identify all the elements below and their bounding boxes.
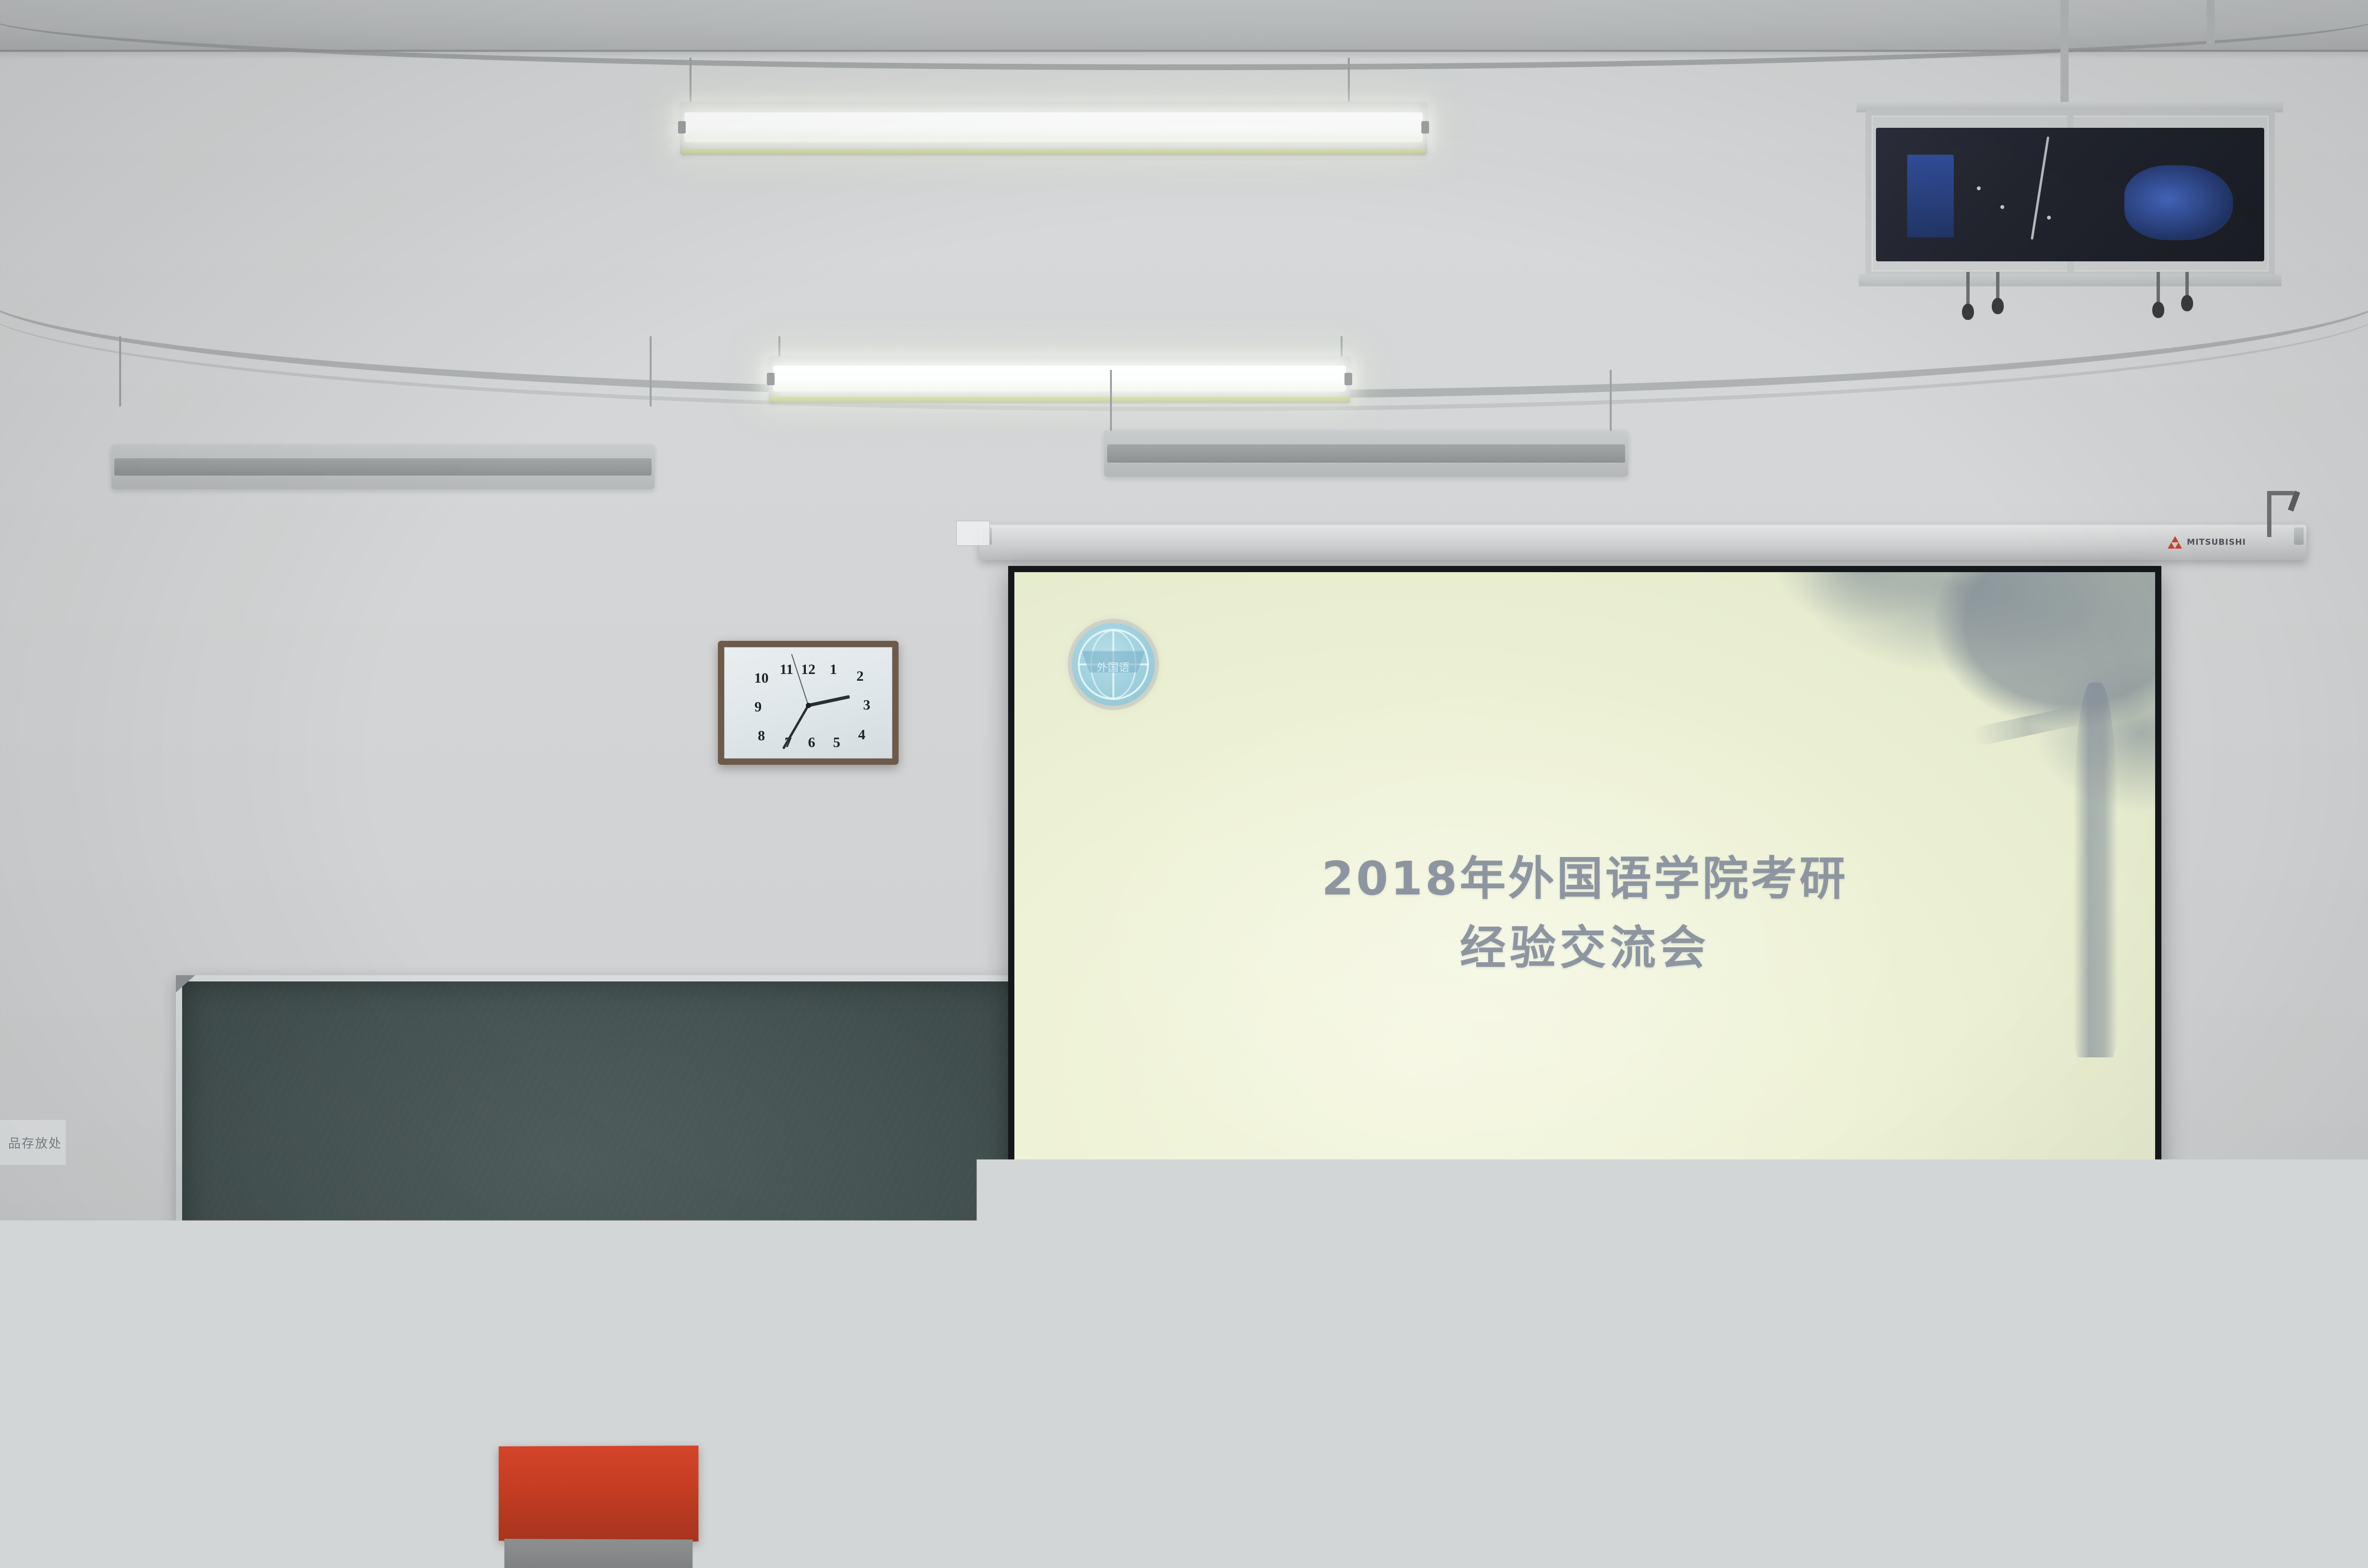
building-watermark — [1061, 1287, 1397, 1445]
wall-clock: 12 1 2 3 4 5 6 7 8 9 10 11 — [718, 641, 899, 765]
slide-date-row: 2018年6月1日 — [1810, 1308, 2085, 1342]
slide-credits: 外国语学院学生会学科部 2018年6月1日 心怀梦想 脚踏实地 — [1810, 1262, 2085, 1373]
building-arch-1 — [1162, 1362, 1182, 1399]
projector-hanger-1 — [1966, 272, 1970, 309]
hanger-knob — [2152, 302, 2164, 318]
three-diamond-icon — [2168, 536, 2182, 549]
light-glow — [681, 149, 1426, 156]
glasses-bridge — [691, 1283, 701, 1284]
fluorescent-tube — [684, 112, 1423, 142]
baseboard — [0, 1548, 2368, 1568]
mitsubishi-label: MITSUBISHI — [2187, 538, 2246, 547]
projector-lens-housing — [2124, 165, 2233, 240]
ceiling-light-right — [1104, 430, 1628, 477]
slide-title-line-1: 2018年外国语学院考研 — [1014, 856, 2155, 902]
light-rod-a1 — [690, 58, 691, 105]
projector-body — [1876, 128, 2264, 261]
projector-hanger-3 — [2157, 272, 2160, 307]
building-column-2 — [1117, 1359, 1125, 1445]
date-bullet-icon — [1897, 1317, 1913, 1333]
slide-title-line-2: 经验交流会 — [1014, 925, 2155, 971]
building-main-block — [1070, 1353, 1368, 1445]
clock-numeral-11: 11 — [780, 661, 793, 678]
building-arch-3 — [1230, 1362, 1249, 1399]
lens-left — [655, 1276, 687, 1296]
clock-numeral-9: 9 — [754, 699, 762, 715]
projector-hanger-4 — [2185, 272, 2189, 301]
clock-numeral-12: 12 — [801, 661, 815, 678]
building-column-1 — [1090, 1359, 1098, 1445]
globe-emblem-icon: 外国语 — [1072, 623, 1155, 706]
eyebrow-right — [703, 1268, 728, 1271]
light-cap-right — [1344, 373, 1352, 385]
screen-wall-bracket — [2267, 491, 2294, 537]
projection-screen: 外国语 2018年外国语学院考研 经验交流会 外国语学院学生会学科部 2018年… — [1008, 566, 2161, 1464]
projector-mount-post-right — [2207, 0, 2215, 44]
building-pediment — [1131, 1340, 1298, 1359]
clock-numeral-5: 5 — [833, 735, 840, 751]
ceiling-light-left — [111, 445, 654, 489]
projector-indicator-1 — [1977, 186, 1981, 190]
building-column-3 — [1272, 1359, 1280, 1445]
light-rod-d2 — [1610, 370, 1612, 432]
slide-motto: 心怀梦想 脚踏实地 — [1810, 1356, 2085, 1373]
fluorescent-tube-off — [1107, 444, 1625, 463]
clock-numeral-1: 1 — [830, 661, 837, 678]
clock-face: 12 1 2 3 4 5 6 7 8 9 10 11 — [724, 647, 892, 759]
projector-indicator-3 — [2047, 216, 2051, 220]
shirt-collar — [669, 1340, 723, 1361]
mouth — [685, 1309, 707, 1316]
building-column-5 — [1330, 1359, 1337, 1445]
garfield-stripe-3 — [702, 1429, 704, 1437]
projector-hanger-2 — [1996, 272, 1999, 304]
hanger-knob — [2181, 295, 2193, 311]
projector-mount-post-left — [2060, 0, 2069, 115]
roller-cap-right — [2294, 527, 2304, 545]
wall-sign: 品存放处 — [0, 1119, 66, 1165]
clock-numeral-6: 6 — [808, 735, 815, 751]
classroom-scene: 12 1 2 3 4 5 6 7 8 9 10 11 品存放处 — [0, 0, 2368, 1568]
wall-sign-text: 品存放处 — [8, 1134, 62, 1151]
laptop[interactable] — [499, 1445, 699, 1542]
projector-indicator-2 — [2000, 205, 2004, 209]
fluorescent-tube — [773, 366, 1346, 392]
light-cap-left — [678, 121, 686, 134]
garfield-stripe-1 — [678, 1429, 680, 1437]
fluorescent-tube-off — [114, 458, 652, 476]
screen-roller-housing: MITSUBISHI — [979, 525, 2306, 560]
projector-side-panel — [1907, 155, 1954, 237]
light-rod-c2 — [650, 336, 652, 406]
presentation-slide: 外国语 2018年外国语学院考研 经验交流会 外国语学院学生会学科部 2018年… — [1014, 572, 2155, 1458]
ceiling-light-middle — [769, 356, 1350, 403]
clock-numeral-3: 3 — [863, 697, 870, 713]
slide-organization: 外国语学院学生会学科部 — [1810, 1262, 2085, 1296]
building-arch-2 — [1196, 1362, 1215, 1399]
slide-title: 2018年外国语学院考研 经验交流会 — [1014, 856, 2155, 971]
screen-mount-plate-left — [956, 521, 990, 546]
clock-numeral-10: 10 — [754, 670, 769, 686]
garfield-stripe-2 — [687, 1429, 690, 1437]
ceiling-projector — [1865, 110, 2275, 278]
building-column-4 — [1300, 1359, 1307, 1445]
logo-banner-text: 外国语 — [1082, 651, 1145, 673]
eyebrow-left — [664, 1268, 689, 1271]
light-rod-a2 — [1348, 58, 1350, 105]
garfield-stripe-4 — [711, 1429, 714, 1437]
mitsubishi-brand: MITSUBISHI — [2168, 536, 2246, 549]
projector-cable — [2031, 136, 2049, 240]
eyeglasses — [655, 1275, 736, 1298]
logo-banner: 外国语 — [1082, 651, 1145, 673]
hanger-knob — [1962, 304, 1974, 320]
light-rod-d1 — [1110, 370, 1112, 432]
clock-hour-hand — [808, 695, 850, 707]
clock-numeral-4: 4 — [858, 727, 865, 743]
light-cap-left — [767, 373, 775, 385]
light-glow — [770, 397, 1349, 404]
ceiling-light-upper — [680, 102, 1427, 155]
slide-date: 2018年6月1日 — [1917, 1308, 2085, 1342]
cage-bottom-panel — [1859, 274, 2282, 286]
chalkboard-eraser — [442, 1421, 499, 1437]
light-cap-right — [1421, 121, 1429, 134]
clock-minute-hand — [782, 705, 809, 749]
light-rod-c1 — [119, 336, 121, 406]
clock-center-hub — [806, 703, 811, 708]
hanger-knob — [1992, 298, 2004, 314]
clock-numeral-2: 2 — [856, 668, 863, 685]
clock-numeral-8: 8 — [758, 728, 765, 744]
lens-right — [704, 1276, 736, 1296]
